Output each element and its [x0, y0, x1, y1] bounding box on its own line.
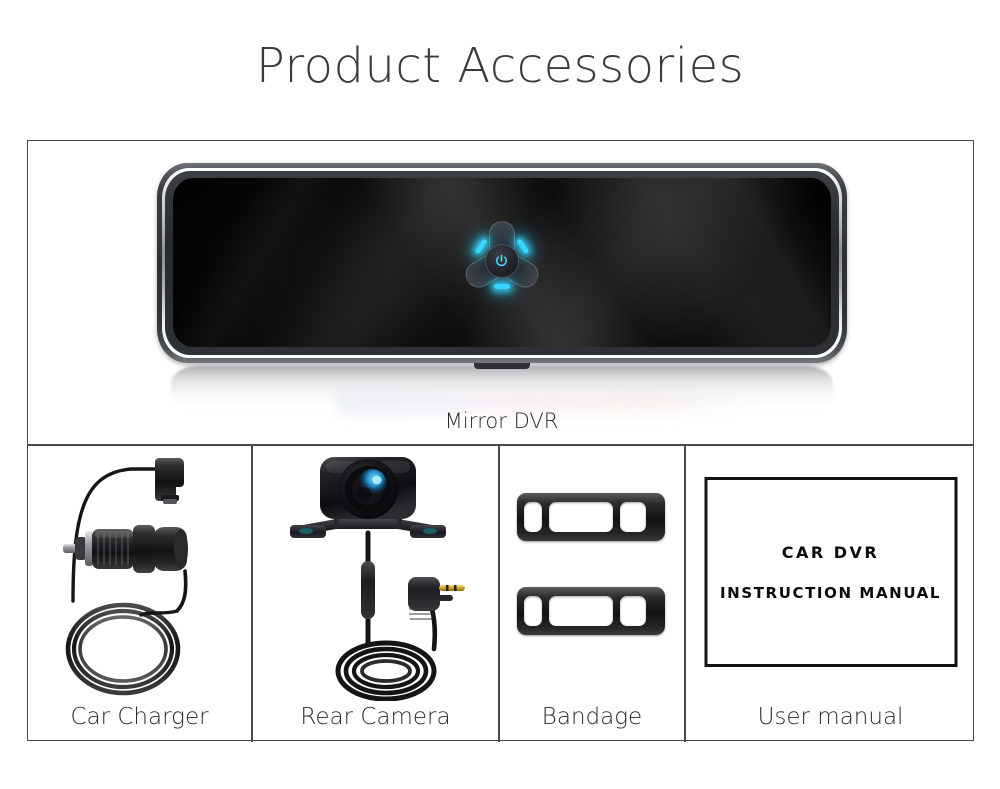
user-manual-caption: User manual: [686, 704, 975, 730]
cell-car-charger: Car Charger: [28, 445, 251, 742]
jack-gold-tip: [439, 585, 465, 591]
plug-collar: [85, 531, 93, 566]
bandage-strap-bottom: [517, 587, 665, 635]
rear-camera-caption: Rear Camera: [253, 704, 498, 730]
mirror-dvr-caption: Mirror DVR: [28, 409, 975, 433]
plug-barrel: [133, 525, 155, 573]
manual-cover-title: CAR DVR: [782, 543, 880, 562]
car-charger-caption: Car Charger: [28, 704, 251, 730]
strap-hole-small: [524, 596, 542, 626]
power-led-glow: [494, 284, 510, 289]
power-led-glow: [516, 238, 529, 254]
mirror-body: [157, 163, 847, 363]
camera-lens: [338, 459, 398, 519]
cell-mirror-dvr: Mirror DVR: [28, 141, 975, 444]
power-icon: [494, 254, 509, 269]
strap-hole-large: [549, 502, 613, 532]
car-charger-graphic: [45, 451, 235, 701]
bracket-screw-hole: [423, 528, 437, 534]
plug-center-tip: [63, 544, 77, 553]
manual-cover: CAR DVR INSTRUCTION MANUAL: [704, 477, 957, 667]
bandage-illustration: [517, 493, 667, 653]
cell-bandage: Bandage: [500, 445, 684, 742]
user-manual-illustration: CAR DVR INSTRUCTION MANUAL: [704, 477, 957, 667]
page-title: Product Accessories: [0, 38, 1000, 94]
cell-user-manual: CAR DVR INSTRUCTION MANUAL User manual: [686, 445, 975, 742]
bandage-caption: Bandage: [500, 704, 684, 730]
power-button-hub[interactable]: [485, 244, 519, 278]
mini-usb-connector: [155, 458, 184, 504]
bracket-screw-hole: [299, 528, 313, 534]
bandage-strap-top: [517, 493, 665, 541]
strap-hole-medium: [620, 596, 646, 626]
car-charger-illustration: [45, 451, 235, 701]
charger-lower-cable: [177, 571, 186, 611]
rear-camera-illustration: [276, 449, 476, 701]
charger-coiled-cable: [68, 605, 178, 693]
accessories-grid: Mirror DVR: [27, 140, 974, 741]
strap-hole-small: [524, 502, 542, 532]
twelve-volt-plug: [63, 525, 188, 573]
power-led-glow: [474, 238, 487, 254]
strap-hole-large: [549, 596, 613, 626]
strap-hole-medium: [620, 502, 646, 532]
mirror-dvr-illustration: [157, 163, 847, 403]
power-button[interactable]: [459, 218, 545, 304]
rear-camera-graphic: [276, 449, 476, 701]
camera-inline-module: [361, 561, 375, 619]
cell-rear-camera: Rear Camera: [253, 445, 498, 742]
camera-coiled-cable: [338, 643, 434, 699]
product-accessories-page: Product Accessories: [0, 0, 1000, 789]
manual-cover-subtitle: INSTRUCTION MANUAL: [720, 584, 941, 602]
camera-av-jack: [408, 577, 465, 619]
